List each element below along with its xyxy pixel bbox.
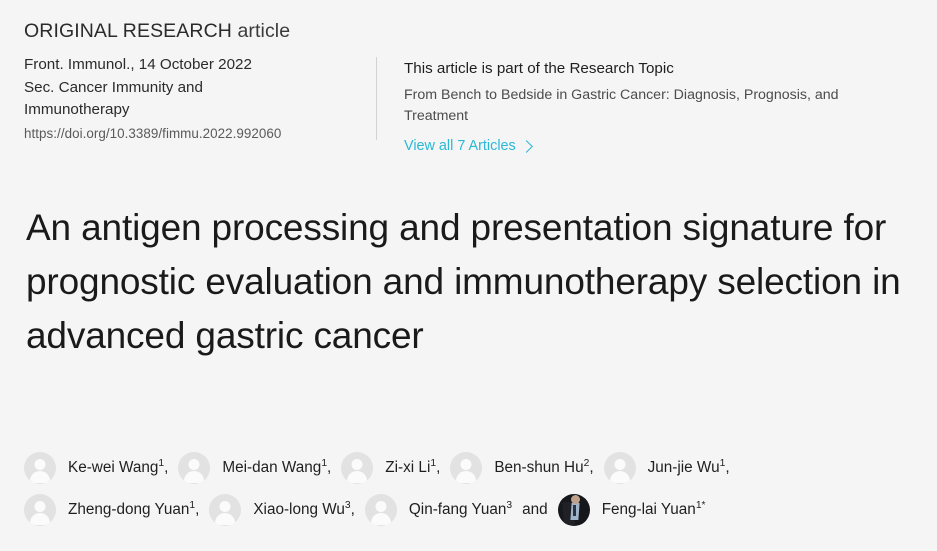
author-affiliation-marker: 1 <box>430 458 436 469</box>
research-topic-label: This article is part of the Research Top… <box>404 58 913 80</box>
author-item[interactable]: Feng-lai Yuan1* <box>558 494 706 526</box>
author-item[interactable]: Mei-dan Wang1, <box>178 452 331 484</box>
author-affiliation-marker: 1 <box>189 500 195 511</box>
author-item[interactable]: Qin-fang Yuan3 <box>365 494 512 526</box>
article-type-suffix: article <box>232 20 290 42</box>
author-item[interactable]: Zi-xi Li1, <box>341 452 440 484</box>
author-placeholder-avatar-icon <box>365 494 397 526</box>
author-photo-avatar <box>558 494 590 526</box>
chevron-right-icon <box>520 140 533 153</box>
author-placeholder-avatar-icon <box>178 452 210 484</box>
view-all-articles-label: View all 7 Articles <box>404 136 516 156</box>
author-name: Mei-dan Wang1, <box>222 457 331 479</box>
author-item[interactable]: Jun-jie Wu1, <box>604 452 730 484</box>
author-affiliation-marker: 1 <box>321 458 327 469</box>
author-item[interactable]: Zheng-dong Yuan1, <box>24 494 199 526</box>
view-all-articles-link[interactable]: View all 7 Articles <box>404 136 531 156</box>
article-type: ORIGINAL RESEARCH article <box>24 18 356 44</box>
author-name: Xiao-long Wu3, <box>253 499 355 521</box>
author-item[interactable]: Xiao-long Wu3, <box>209 494 355 526</box>
author-name: Qin-fang Yuan3 <box>409 499 512 521</box>
header-right-column: This article is part of the Research Top… <box>377 18 913 156</box>
article-type-prefix: ORIGINAL RESEARCH <box>24 20 232 42</box>
author-name: Jun-jie Wu1, <box>648 457 730 479</box>
header-left-column: ORIGINAL RESEARCH article Front. Immunol… <box>24 18 376 144</box>
journal-line-3: Immunotherapy <box>24 99 356 122</box>
author-item[interactable]: Ben-shun Hu2, <box>450 452 593 484</box>
research-topic-name[interactable]: From Bench to Bedside in Gastric Cancer:… <box>404 85 896 127</box>
author-placeholder-avatar-icon <box>604 452 636 484</box>
author-affiliation-marker: 1 <box>158 458 164 469</box>
author-placeholder-avatar-icon <box>341 452 373 484</box>
header-region: ORIGINAL RESEARCH article Front. Immunol… <box>24 0 913 148</box>
author-name: Ke-wei Wang1, <box>68 457 168 479</box>
author-name: Zi-xi Li1, <box>385 457 440 479</box>
author-affiliation-marker: 2 <box>584 458 590 469</box>
author-name: Ben-shun Hu2, <box>494 457 593 479</box>
author-affiliation-marker: 1 <box>720 458 726 469</box>
author-placeholder-avatar-icon <box>209 494 241 526</box>
author-name: Zheng-dong Yuan1, <box>68 499 199 521</box>
page-title: An antigen processing and presentation s… <box>24 201 906 363</box>
author-placeholder-avatar-icon <box>450 452 482 484</box>
author-affiliation-marker: 1* <box>696 500 706 511</box>
journal-line-2: Sec. Cancer Immunity and <box>24 77 356 100</box>
author-name: Feng-lai Yuan1* <box>602 499 706 521</box>
article-header-page: ORIGINAL RESEARCH article Front. Immunol… <box>0 0 937 551</box>
author-affiliation-marker: 3 <box>345 500 351 511</box>
author-affiliation-marker: 3 <box>506 500 512 511</box>
author-conjunction: and <box>522 501 548 519</box>
doi-link[interactable]: https://doi.org/10.3389/fimmu.2022.99206… <box>24 124 356 144</box>
author-placeholder-avatar-icon <box>24 494 56 526</box>
author-list: Ke-wei Wang1,Mei-dan Wang1,Zi-xi Li1,Ben… <box>24 452 914 526</box>
author-item[interactable]: Ke-wei Wang1, <box>24 452 168 484</box>
author-placeholder-avatar-icon <box>24 452 56 484</box>
journal-line-1: Front. Immunol., 14 October 2022 <box>24 54 356 77</box>
